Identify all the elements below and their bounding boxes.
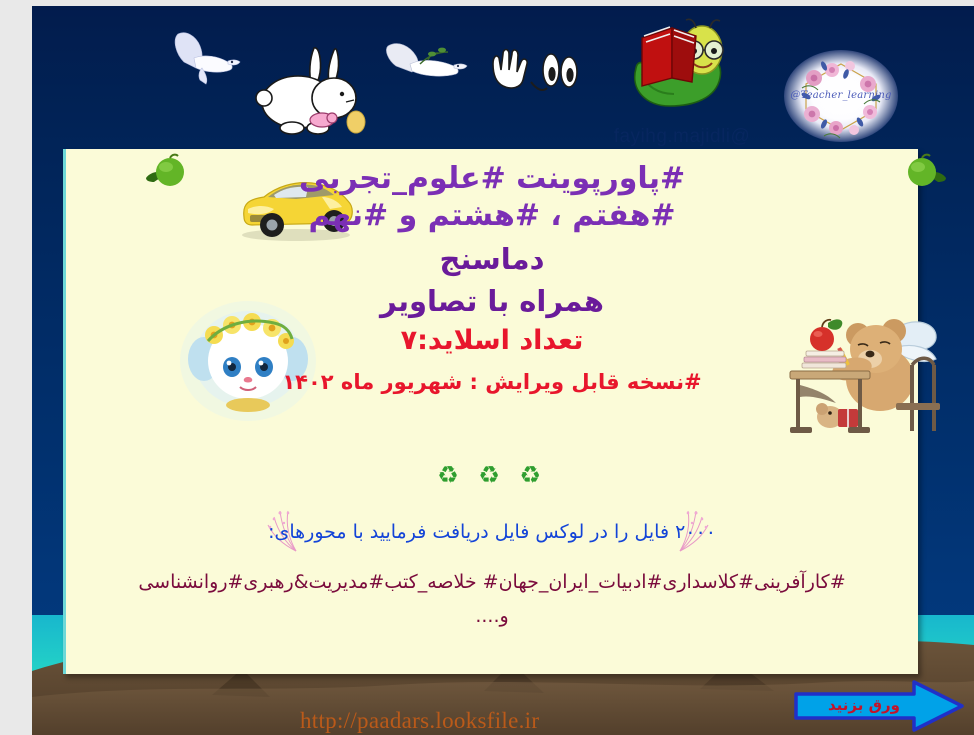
- slide-count-line: تعداد اسلاید:۷: [66, 325, 918, 358]
- screenshot-root: @Teacher_learning fayihg.majidli@: [0, 0, 974, 735]
- title-line-4: همراه با تصاویر: [66, 284, 918, 319]
- caterpillar-reading-book-icon: [620, 16, 738, 112]
- rabbit-with-egg-icon: [250, 42, 376, 142]
- cartoon-hands-icon: [487, 48, 587, 100]
- title-block: #پاورپوینت #علوم_تجربی #هفتم ، #هشتم و #…: [66, 161, 918, 395]
- next-slide-button-label: ورق بزنید: [804, 696, 924, 714]
- site-url-watermark: http://paadars.looksfile.ir: [300, 708, 539, 734]
- title-line-3: دماسنج: [66, 242, 918, 277]
- content-panel: #پاورپوینت #علوم_تجربی #هفتم ، #هشتم و #…: [63, 149, 918, 674]
- hashtag-line-2: و....: [70, 605, 914, 627]
- title-line-1: #پاورپوینت #علوم_تجربی: [66, 161, 918, 198]
- hashtag-line-1: #کارآفرینی#کلاسداری#ادبیات_ایران_جهان# خ…: [70, 571, 914, 593]
- download-note-text: ۲۰۰۰ فایل را در لوکس فایل دریافت فرمایید…: [66, 521, 918, 543]
- top-watermark-text: fayihg.majidli@: [552, 126, 812, 148]
- next-slide-button[interactable]: ورق بزنید: [794, 680, 964, 732]
- title-line-2: #هفتم ، #هشتم و #نهم: [66, 198, 918, 235]
- presentation-slide: @Teacher_learning fayihg.majidli@: [32, 6, 974, 735]
- dove-left-icon: [170, 28, 242, 90]
- editable-version-line: #نسخه قابل ویرایش : شهریور ماه ۱۴۰۲: [66, 370, 918, 396]
- teacher-badge-label: @Teacher_learning: [784, 90, 898, 101]
- recycle-icons-row: ♻ ♻ ♻: [66, 461, 918, 489]
- dove-right-icon: [384, 36, 468, 92]
